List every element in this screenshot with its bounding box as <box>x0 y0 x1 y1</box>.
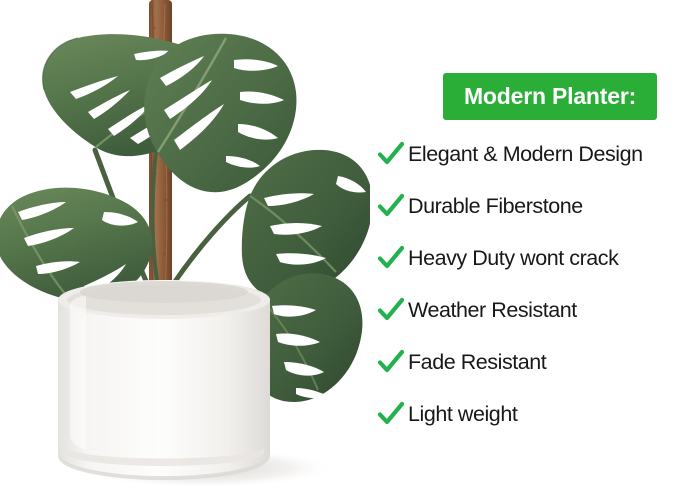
soil-surface <box>80 281 248 303</box>
feature-item: Weather Resistant <box>370 284 679 336</box>
feature-label: Heavy Duty wont crack <box>408 246 618 271</box>
feature-label: Elegant & Modern Design <box>408 142 643 167</box>
feature-label: Weather Resistant <box>408 298 577 323</box>
badge-label: Modern Planter: <box>464 83 636 110</box>
product-photo <box>0 0 370 489</box>
feature-item: Heavy Duty wont crack <box>370 232 679 284</box>
feature-item: Fade Resistant <box>370 336 679 388</box>
product-feature-image: Modern Planter: Elegant & Modern Design … <box>0 0 679 489</box>
feature-item: Elegant & Modern Design <box>370 128 679 180</box>
check-icon <box>378 401 404 427</box>
feature-list: Elegant & Modern Design Durable Fibersto… <box>370 128 679 440</box>
feature-label: Light weight <box>408 402 517 427</box>
check-icon <box>378 349 404 375</box>
check-icon <box>378 193 404 219</box>
modern-planter-badge: Modern Planter: <box>443 73 657 120</box>
feature-label: Durable Fiberstone <box>408 194 583 219</box>
check-icon <box>378 245 404 271</box>
marketing-copy-panel: Modern Planter: Elegant & Modern Design … <box>370 0 679 489</box>
feature-item: Durable Fiberstone <box>370 180 679 232</box>
check-icon <box>378 141 404 167</box>
feature-label: Fade Resistant <box>408 350 546 375</box>
white-cylindrical-planter <box>58 280 270 480</box>
check-icon <box>378 297 404 323</box>
feature-item: Light weight <box>370 388 679 440</box>
